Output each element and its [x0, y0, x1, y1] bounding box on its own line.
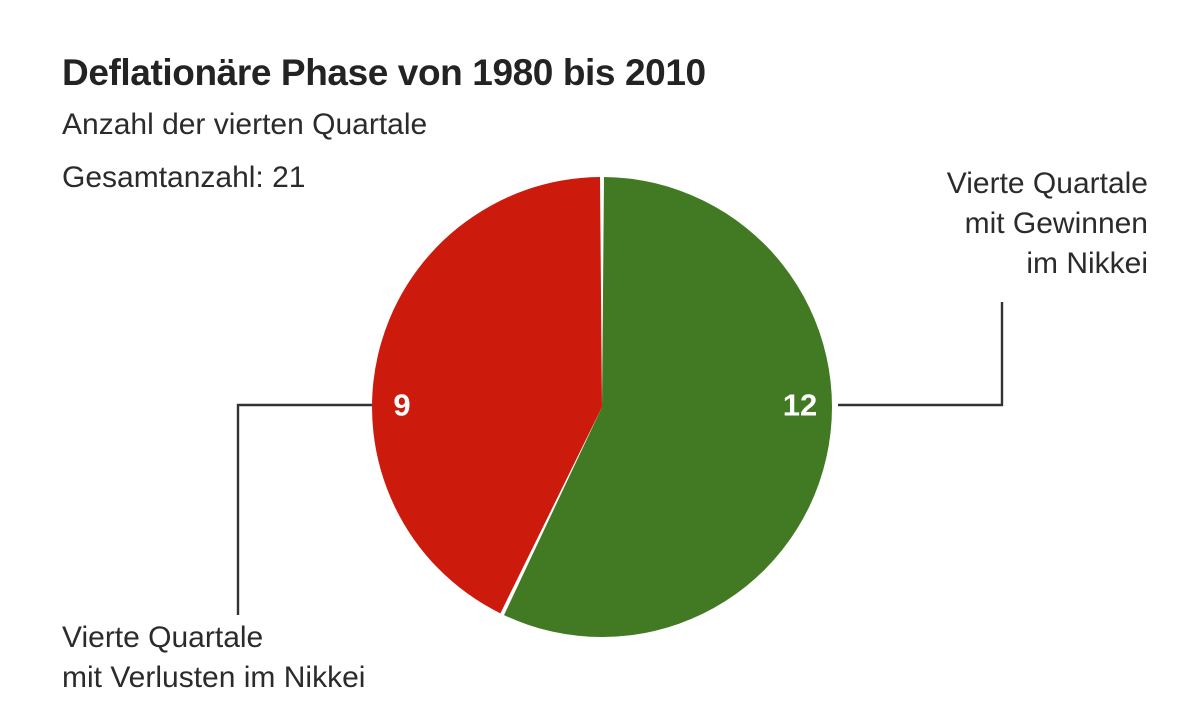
- pie-chart-figure: 12 9: [0, 0, 1200, 725]
- callout-label-losses: Vierte Quartale mit Verlusten im Nikkei: [62, 618, 365, 698]
- pie-chart-svg: 12 9: [0, 0, 1200, 725]
- slice-value-gains: 12: [783, 388, 817, 423]
- slice-value-losses: 9: [393, 388, 410, 423]
- pie-slice-group: [372, 177, 832, 637]
- leader-line-gains: [838, 302, 1002, 405]
- callout-label-gains: Vierte Quartale mit Gewinnen im Nikkei: [947, 164, 1148, 284]
- chart-canvas: Deflationäre Phase von 1980 bis 2010 Anz…: [0, 0, 1200, 725]
- leader-line-losses: [238, 405, 372, 615]
